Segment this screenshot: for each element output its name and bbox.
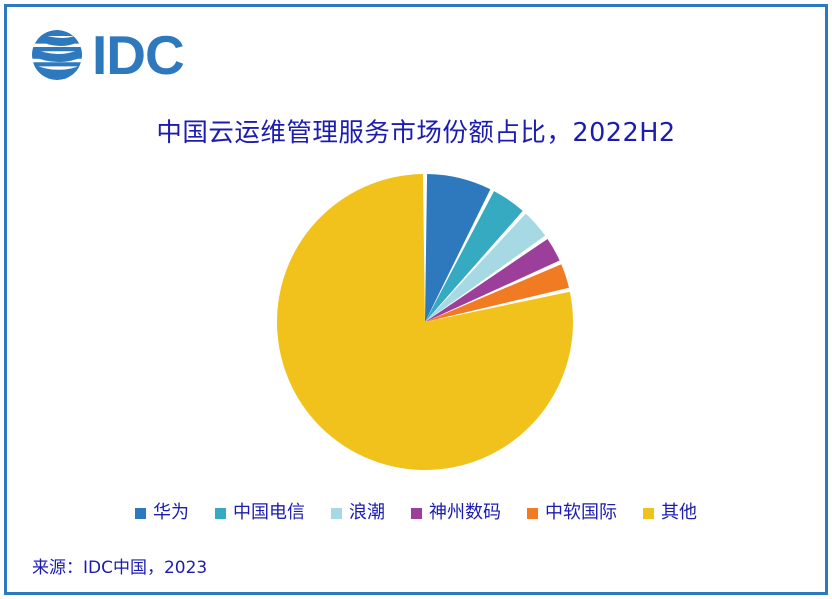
pie-chart-svg (272, 170, 578, 480)
legend-label: 中软国际 (545, 503, 617, 523)
pie-chart (272, 170, 578, 480)
legend-label: 华为 (153, 503, 189, 523)
page-title: 中国云运维管理服务市场份额占比，2022H2 (0, 112, 832, 149)
chart-legend: 华为中国电信浪潮神州数码中软国际其他 (0, 503, 832, 523)
idc-logo: IDC (30, 26, 184, 84)
legend-label: 中国电信 (233, 503, 305, 523)
legend-swatch (215, 508, 226, 519)
legend-swatch (643, 508, 654, 519)
legend-item[interactable]: 其他 (643, 503, 697, 523)
pie-slice-group (277, 174, 573, 470)
legend-label: 神州数码 (429, 503, 501, 523)
legend-label: 其他 (661, 503, 697, 523)
legend-swatch (527, 508, 538, 519)
legend-swatch (135, 508, 146, 519)
legend-item[interactable]: 中软国际 (527, 503, 617, 523)
legend-item[interactable]: 华为 (135, 503, 189, 523)
source-note: 来源：IDC中国，2023 (32, 553, 207, 578)
idc-wordmark: IDC (92, 28, 184, 82)
globe-icon (30, 28, 84, 82)
legend-item[interactable]: 中国电信 (215, 503, 305, 523)
legend-item[interactable]: 神州数码 (411, 503, 501, 523)
legend-label: 浪潮 (349, 503, 385, 523)
legend-swatch (331, 508, 342, 519)
chart-page: IDC 中国云运维管理服务市场份额占比，2022H2 华为中国电信浪潮神州数码中… (0, 0, 832, 599)
legend-item[interactable]: 浪潮 (331, 503, 385, 523)
legend-swatch (411, 508, 422, 519)
